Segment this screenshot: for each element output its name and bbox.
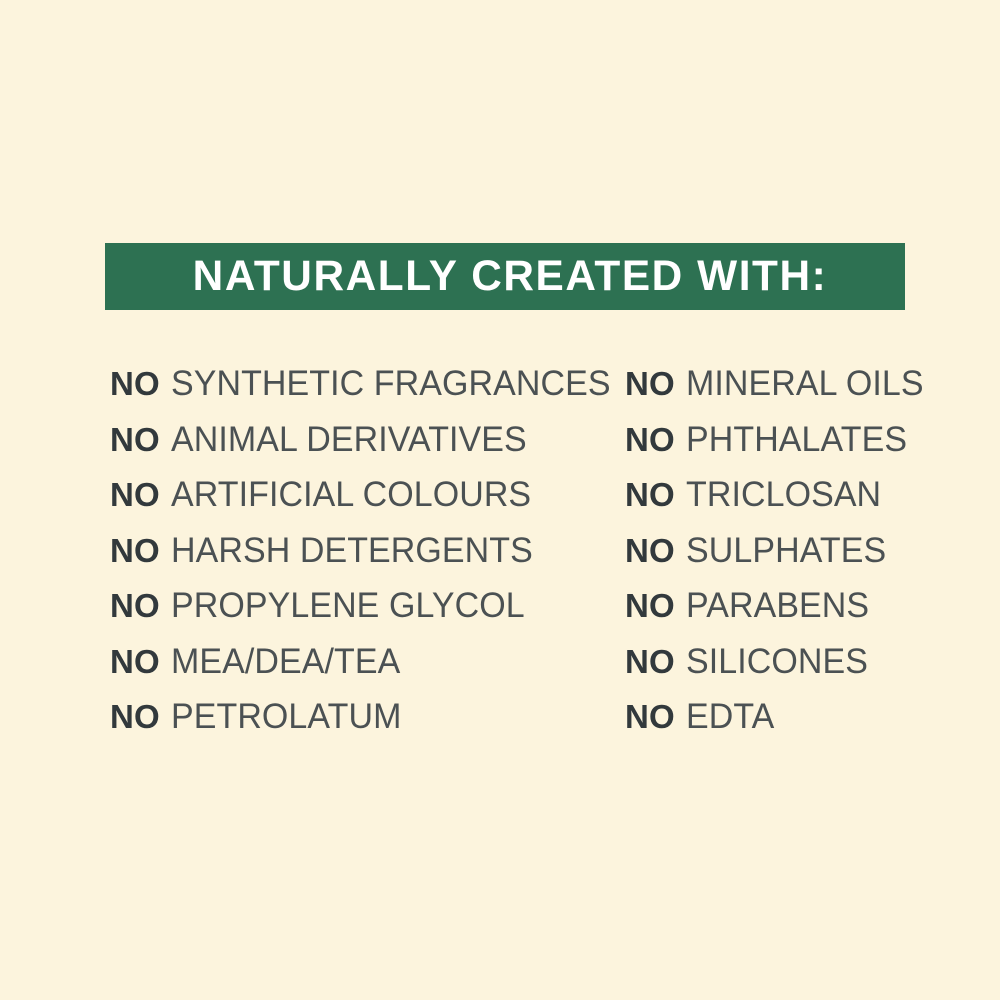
list-item: NO SILICONES	[625, 634, 985, 690]
list-item-label: SULPHATES	[686, 533, 886, 568]
ingredient-claims-graphic: NATURALLY CREATED WITH: NO SYNTHETIC FRA…	[0, 0, 1000, 1000]
list-item: NO SULPHATES	[625, 523, 985, 579]
list-item-label: TRICLOSAN	[686, 477, 881, 512]
list-item-label: SILICONES	[686, 644, 868, 679]
list-item: NO ANIMAL DERIVATIVES	[110, 412, 610, 468]
list-item: NO MEA/DEA/TEA	[110, 634, 610, 690]
list-item: NO TRICLOSAN	[625, 467, 985, 523]
list-item-label: PHTHALATES	[686, 422, 907, 457]
list-item-label: PROPYLENE GLYCOL	[171, 588, 525, 623]
no-prefix: NO	[625, 645, 675, 678]
no-prefix: NO	[110, 645, 160, 678]
list-item: NO ARTIFICIAL COLOURS	[110, 467, 610, 523]
no-prefix: NO	[625, 589, 675, 622]
list-item: NO PETROLATUM	[110, 689, 610, 745]
no-prefix: NO	[110, 589, 160, 622]
list-item-label: SYNTHETIC FRAGRANCES	[171, 366, 611, 401]
no-prefix: NO	[110, 478, 160, 511]
no-prefix: NO	[110, 423, 160, 456]
list-item: NO HARSH DETERGENTS	[110, 523, 610, 579]
list-item-label: ARTIFICIAL COLOURS	[171, 477, 531, 512]
no-prefix: NO	[625, 534, 675, 567]
exclusion-list: NO SYNTHETIC FRAGRANCES NO ANIMAL DERIVA…	[0, 356, 1000, 745]
no-prefix: NO	[625, 478, 675, 511]
list-item: NO EDTA	[625, 689, 985, 745]
list-item-label: MINERAL OILS	[686, 366, 924, 401]
list-item: NO PHTHALATES	[625, 412, 985, 468]
banner-title: NATURALLY CREATED WITH:	[105, 255, 827, 298]
list-item: NO MINERAL OILS	[625, 356, 985, 412]
no-prefix: NO	[110, 367, 160, 400]
exclusion-list-left-column: NO SYNTHETIC FRAGRANCES NO ANIMAL DERIVA…	[110, 356, 610, 745]
list-item-label: MEA/DEA/TEA	[171, 644, 400, 679]
list-item-label: HARSH DETERGENTS	[171, 533, 533, 568]
no-prefix: NO	[110, 534, 160, 567]
list-item: NO PROPYLENE GLYCOL	[110, 578, 610, 634]
list-item-label: ANIMAL DERIVATIVES	[171, 422, 527, 457]
list-item-label: EDTA	[686, 699, 774, 734]
list-item-label: PARABENS	[686, 588, 869, 623]
header-banner: NATURALLY CREATED WITH:	[105, 243, 905, 310]
no-prefix: NO	[625, 423, 675, 456]
no-prefix: NO	[110, 700, 160, 733]
exclusion-list-right-column: NO MINERAL OILS NO PHTHALATES NO TRICLOS…	[625, 356, 985, 745]
list-item: NO SYNTHETIC FRAGRANCES	[110, 356, 610, 412]
no-prefix: NO	[625, 700, 675, 733]
list-item-label: PETROLATUM	[171, 699, 401, 734]
no-prefix: NO	[625, 367, 675, 400]
list-item: NO PARABENS	[625, 578, 985, 634]
